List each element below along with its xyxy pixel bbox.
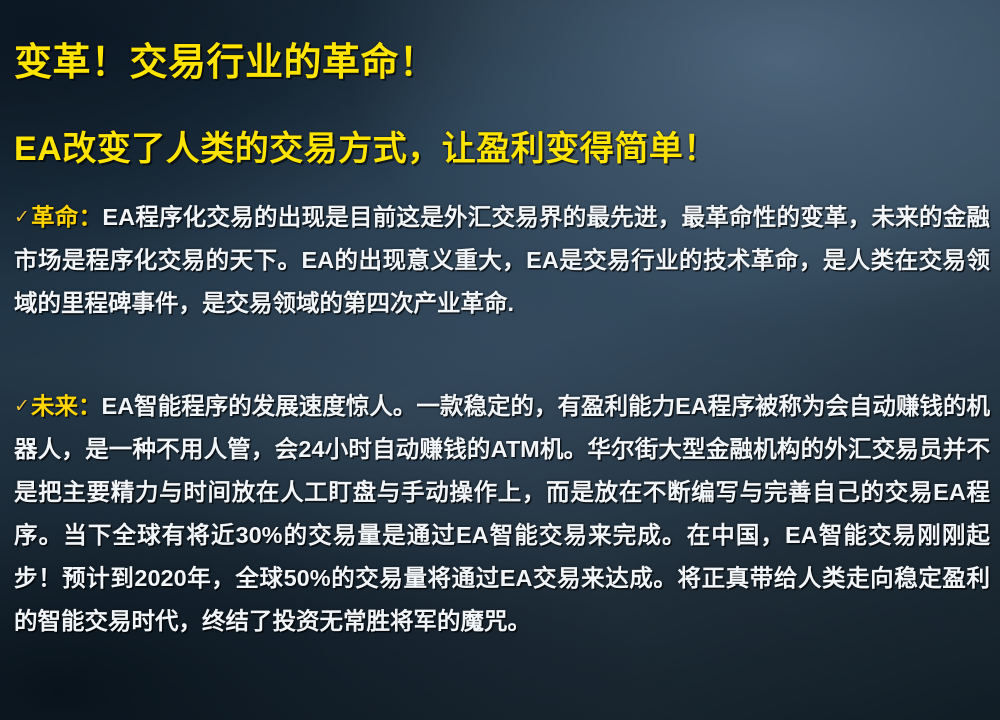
bullet-body-revolution: EA程序化交易的出现是目前这是外汇交易界的最先进，最革命性的变革，未来的金融市场… [14,204,990,316]
bullet-block-revolution: ✓革命：EA程序化交易的出现是目前这是外汇交易界的最先进，最革命性的变革，未来的… [14,196,990,325]
bullet-block-future: ✓未来：EA智能程序的发展速度惊人。一款稳定的，有盈利能力EA程序被称为会自动赚… [14,385,990,643]
bullet-label-revolution: 革命： [31,204,102,230]
bullet-paragraph: ✓革命：EA程序化交易的出现是目前这是外汇交易界的最先进，最革命性的变革，未来的… [14,196,990,325]
bullet-paragraph: ✓未来：EA智能程序的发展速度惊人。一款稳定的，有盈利能力EA程序被称为会自动赚… [14,385,990,643]
check-icon: ✓ [14,396,30,417]
presentation-slide: 变革！交易行业的革命！ EA改变了人类的交易方式，让盈利变得简单！ ✓革命：EA… [0,0,1000,720]
bullet-label-future: 未来： [31,393,102,419]
slide-title-sub: EA改变了人类的交易方式，让盈利变得简单！ [14,131,718,168]
slide-title-main: 变革！交易行业的革命！ [14,43,438,85]
check-icon: ✓ [14,207,30,228]
bullet-body-future: EA智能程序的发展速度惊人。一款稳定的，有盈利能力EA程序被称为会自动赚钱的机器… [14,393,990,634]
